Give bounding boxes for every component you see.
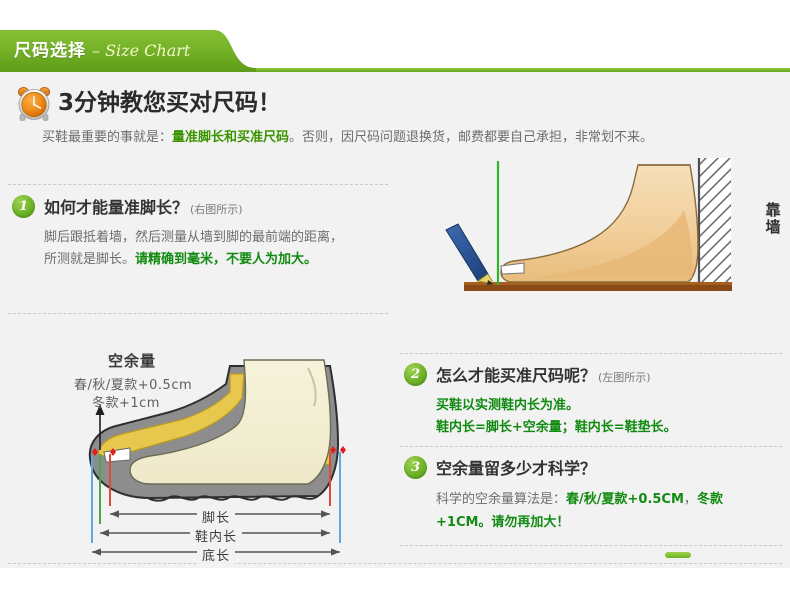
blue-pencil xyxy=(446,224,494,285)
subtitle-line: 买鞋最重要的事就是：量准脚长和买准尺码。否则，因尺码问题退换货，邮费都要自己承担… xyxy=(42,129,782,147)
subtitle-prefix: 买鞋最重要的事就是： xyxy=(42,130,172,145)
wall-label: 靠墙 xyxy=(764,202,782,237)
banner-title-en: – Size Chart xyxy=(92,41,190,60)
step-3-body: 科学的空余量算法是：春/秋/夏款+0.5CM，冬款 +1CM。请勿再加大！ xyxy=(436,488,786,535)
step-3-line-1: 科学的空余量算法是：春/秋/夏款+0.5CM，冬款 xyxy=(436,488,786,511)
subtitle-emphasis: 量准脚长和买准尺码 xyxy=(172,130,289,145)
step-1-note: (右图所示) xyxy=(190,203,243,216)
step-1-line-2: 所测就是脚长。请精确到毫米，不要人为加大。 xyxy=(44,249,392,271)
step-2-note: (左图所示) xyxy=(598,371,651,384)
step-3-plain-1: 科学的空余量算法是： xyxy=(436,492,566,507)
bottom-green-pill xyxy=(665,552,691,558)
step-2-header: 2 怎么才能买准尺码呢？(左图所示) xyxy=(404,362,786,386)
divider-top-left xyxy=(8,184,388,185)
step-3-green-2: 冬款 xyxy=(697,492,723,507)
step-1-title-text: 如何才能量准脚长？ xyxy=(44,198,188,217)
dimension-label-sole-length: 底长 xyxy=(197,545,235,564)
step-2-title: 怎么才能买准尺码呢？(左图所示) xyxy=(436,362,651,386)
step-3-title-text: 空余量留多少才科学？ xyxy=(436,459,596,478)
step-1-line-1: 脚后跟抵着墙，然后测量从墙到脚的最前端的距离， xyxy=(44,227,392,249)
size-chart-page: 尺码选择 – Size Chart xyxy=(0,0,790,589)
step-1-line2-plain: 所测就是脚长。 xyxy=(44,252,135,267)
step-3-title: 空余量留多少才科学？ xyxy=(436,455,598,479)
step-1-header: 1 如何才能量准脚长？(右图所示) xyxy=(12,194,392,218)
divider-mid-left xyxy=(8,313,388,314)
step-3-green-1: 春/秋/夏款+0.5CM xyxy=(566,492,684,507)
clearance-title: 空余量 xyxy=(108,350,156,371)
step-2-line-2: 鞋内长=脚长+空余量；鞋内长=鞋垫长。 xyxy=(436,417,786,439)
divider-step2-top xyxy=(400,353,782,354)
dimension-label-foot-length: 脚长 xyxy=(197,507,235,526)
step-3-line-2: +1CM。请勿再加大！ xyxy=(436,511,786,534)
shoe-cross-section-diagram: 空余量 春/秋/夏款+0.5cm 冬款+1cm 脚长 鞋内长 底长 xyxy=(30,338,402,563)
step-3-plain-2: ， xyxy=(684,492,697,507)
foot-measuring-diagram: 靠墙 xyxy=(402,158,790,310)
step-3-block: 3 空余量留多少才科学？ 科学的空余量算法是：春/秋/夏款+0.5CM，冬款 +… xyxy=(404,455,786,535)
header-banner: 尺码选择 – Size Chart xyxy=(0,28,790,72)
step-2-badge: 2 xyxy=(404,363,427,386)
divider-step3-top xyxy=(400,446,782,447)
step-2-block: 2 怎么才能买准尺码呢？(左图所示) 买鞋以实测鞋内长为准。 鞋内长=脚长+空余… xyxy=(404,362,786,440)
step-3-header: 3 空余量留多少才科学？ xyxy=(404,455,786,479)
step-1-line2-green: 请精确到毫米，不要人为加大。 xyxy=(135,252,317,267)
divider-page-bottom xyxy=(8,563,782,564)
step-2-line-1: 买鞋以实测鞋内长为准。 xyxy=(436,395,786,417)
clearance-line-1: 春/秋/夏款+0.5cm xyxy=(74,374,192,393)
dimension-label-inner-length: 鞋内长 xyxy=(190,526,242,545)
banner-title-cn: 尺码选择 xyxy=(14,36,86,61)
alarm-clock-icon xyxy=(14,84,54,122)
divider-step3-bottom xyxy=(400,545,782,546)
subtitle-suffix: 。否则，因尺码问题退换货，邮费都要自己承担，非常划不来。 xyxy=(289,130,653,145)
step-3-badge: 3 xyxy=(404,456,427,479)
clearance-line-2: 冬款+1cm xyxy=(92,392,160,411)
headline-row: 3分钟教您买对尺码！ xyxy=(14,84,281,122)
step-1-title: 如何才能量准脚长？(右图所示) xyxy=(44,194,243,218)
banner-title-group: 尺码选择 – Size Chart xyxy=(14,36,190,66)
step-2-title-text: 怎么才能买准尺码呢？ xyxy=(436,366,596,385)
step-1-body: 脚后跟抵着墙，然后测量从墙到脚的最前端的距离， 所测就是脚长。请精确到毫米，不要… xyxy=(44,227,392,272)
step-2-body: 买鞋以实测鞋内长为准。 鞋内长=脚长+空余量；鞋内长=鞋垫长。 xyxy=(436,395,786,440)
step-1-block: 1 如何才能量准脚长？(右图所示) 脚后跟抵着墙，然后测量从墙到脚的最前端的距离… xyxy=(12,194,392,272)
step-1-badge: 1 xyxy=(12,195,35,218)
headline-title: 3分钟教您买对尺码！ xyxy=(58,92,281,115)
